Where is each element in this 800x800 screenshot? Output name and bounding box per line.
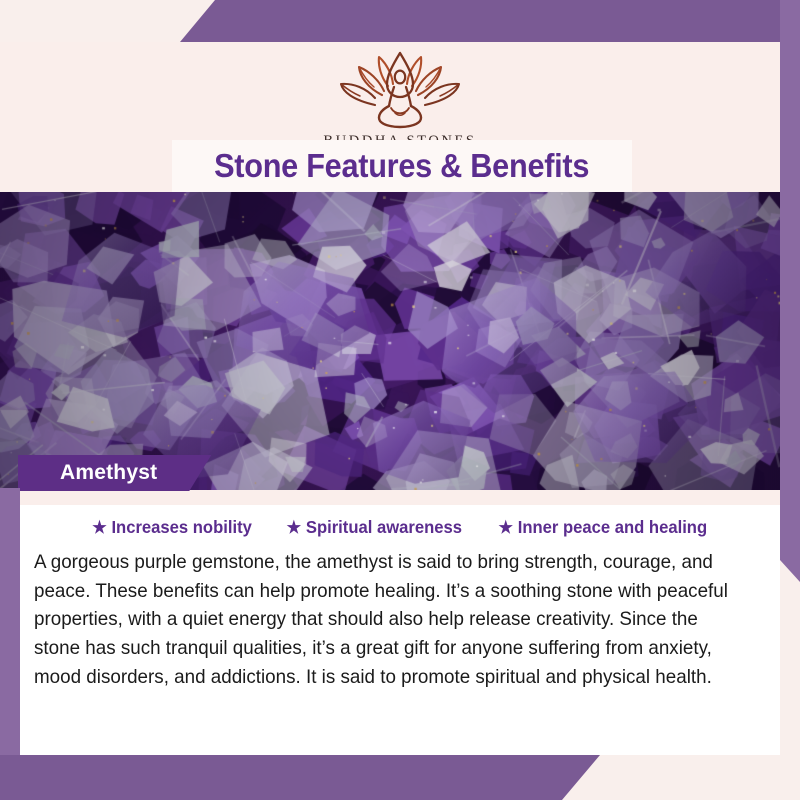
decorative-top-band [0, 0, 800, 42]
stone-name-label: Amethyst [18, 455, 211, 491]
infographic-poster: BUDDHA STONES Stone Features & Benefits … [0, 0, 800, 800]
benefit-item: ★Increases nobility [92, 517, 252, 538]
star-icon: ★ [287, 519, 301, 536]
benefits-row: ★Increases nobility★Spiritual awareness★… [20, 505, 780, 538]
lotus-meditation-icon [335, 50, 465, 130]
star-icon: ★ [92, 519, 106, 536]
benefit-item: ★Spiritual awareness [287, 517, 462, 538]
stone-name-text: Amethyst [60, 461, 157, 485]
benefit-label: Spiritual awareness [306, 517, 462, 538]
stone-photo [0, 192, 780, 490]
benefit-label: Increases nobility [111, 517, 251, 538]
decorative-bottom-band [0, 755, 800, 800]
page-title: Stone Features & Benefits [214, 147, 589, 185]
title-band: Stone Features & Benefits [172, 140, 632, 192]
star-icon: ★ [498, 519, 512, 536]
amethyst-crystal-image [0, 192, 780, 490]
decorative-right-strip [780, 0, 800, 582]
stone-description: A gorgeous purple gemstone, the amethyst… [34, 548, 740, 691]
brand-logo: BUDDHA STONES [0, 50, 800, 150]
content-panel: ★Increases nobility★Spiritual awareness★… [20, 505, 780, 755]
benefit-item: ★Inner peace and healing [498, 517, 707, 538]
benefit-label: Inner peace and healing [517, 517, 706, 538]
decorative-left-strip [0, 488, 20, 755]
